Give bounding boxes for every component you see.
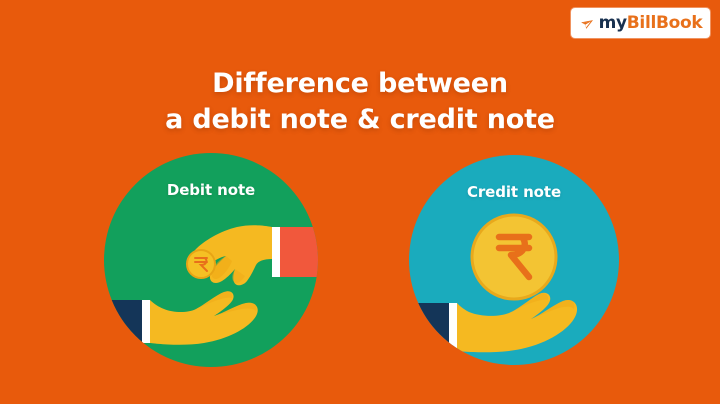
page-title: Difference between a debit note & credit… [0,66,720,138]
debit-note-label: Debit note [104,181,318,199]
brand-logo-billbook: BillBook [627,13,703,33]
cursor-arrow-icon [579,16,595,32]
slide-canvas: myBillBook Difference between a debit no… [0,0,720,404]
open-hand [457,293,577,353]
giving-arm [272,227,318,277]
page-title-line-2: a debit note & credit note [0,102,720,138]
coin-small [187,250,215,278]
rupee-coin [472,215,556,299]
credit-note-panel[interactable]: Credit note [409,155,619,365]
open-arm [409,303,457,351]
brand-logo-my: my [599,13,627,33]
credit-note-label: Credit note [409,183,619,201]
page-title-line-1: Difference between [0,66,720,102]
debit-note-panel[interactable]: Debit note [104,153,318,367]
brand-logo-text: myBillBook [599,15,703,32]
brand-logo[interactable]: myBillBook [571,8,710,38]
receiving-hand [150,291,258,345]
receiving-arm [104,300,150,343]
